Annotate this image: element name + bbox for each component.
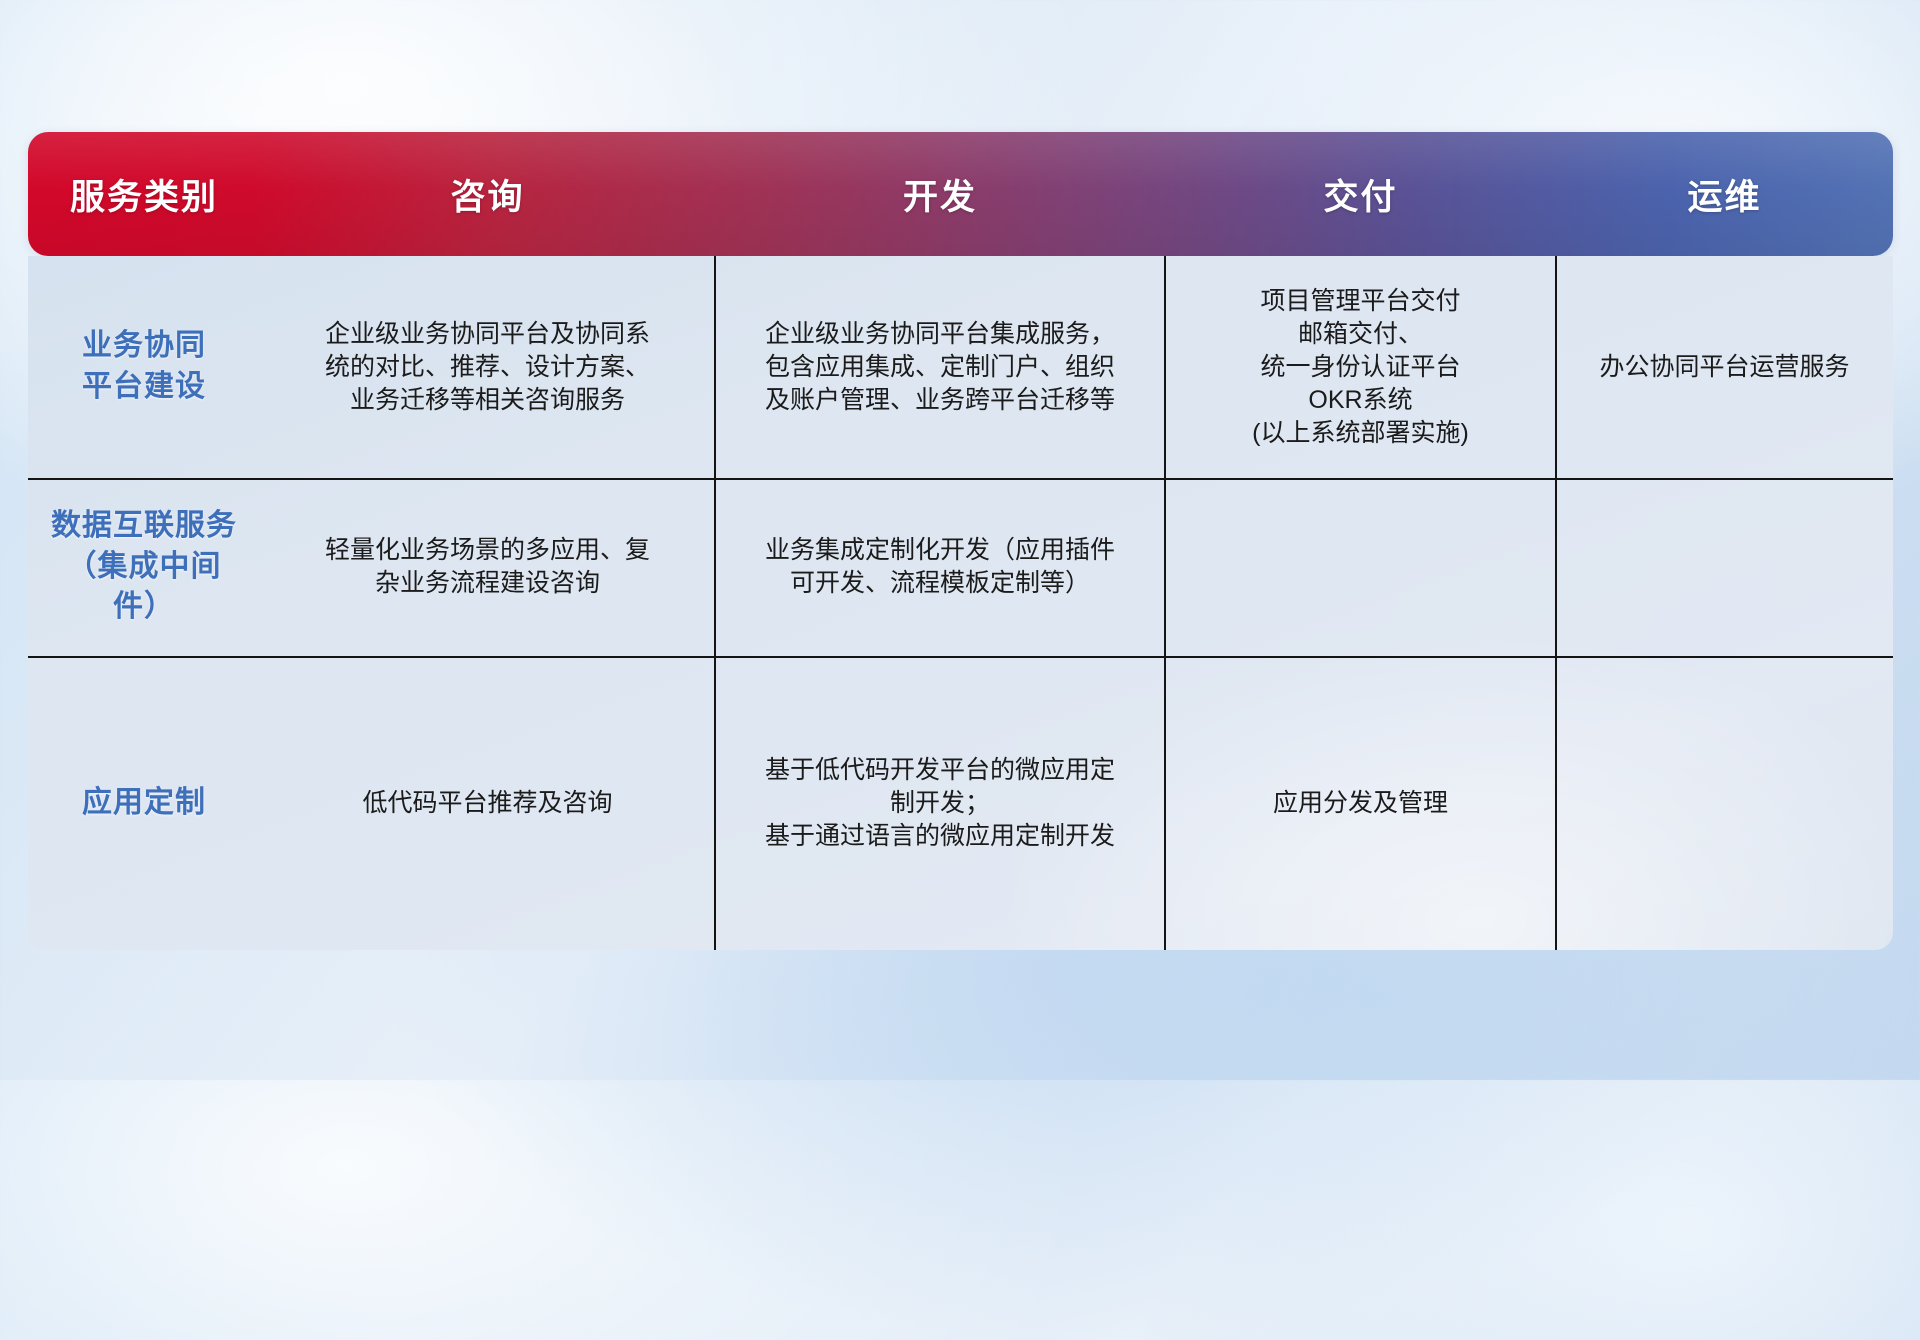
column-header-operations: 运维: [1556, 169, 1893, 220]
cell-r2-consulting: 轻量化业务场景的多应用、复 杂业务流程建设咨询: [260, 534, 715, 600]
column-header-development: 开发: [715, 169, 1165, 220]
cell-r1-development: 企业级业务协同平台集成服务， 包含应用集成、定制门户、组织 及账户管理、业务跨平…: [715, 318, 1165, 417]
row-divider-2: [28, 656, 1893, 658]
column-divider-1: [714, 256, 716, 950]
row-divider-1: [28, 478, 1893, 480]
table-row: 业务协同 平台建设 企业级业务协同平台及协同系 统的对比、推荐、设计方案、 业务…: [28, 256, 1893, 478]
column-header-delivery: 交付: [1165, 169, 1556, 220]
table-header-row: 服务类别 咨询 开发 交付 运维: [28, 132, 1893, 256]
cell-r3-consulting: 低代码平台推荐及咨询: [260, 787, 715, 820]
cell-r2-development: 业务集成定制化开发（应用插件 可开发、流程模板定制等）: [715, 534, 1165, 600]
column-divider-2: [1164, 256, 1166, 950]
row-label-app-customization: 应用定制: [28, 783, 260, 824]
table-row: 数据互联服务 （集成中间件） 轻量化业务场景的多应用、复 杂业务流程建设咨询 业…: [28, 478, 1893, 656]
column-header-consulting: 咨询: [260, 169, 715, 220]
service-matrix-table: 服务类别 咨询 开发 交付 运维 业务协同 平台建设 企业级业务协同平台及协同系…: [28, 132, 1893, 950]
column-header-category: 服务类别: [28, 169, 260, 220]
row-label-data-integration: 数据互联服务 （集成中间件）: [28, 506, 260, 628]
cell-r1-consulting: 企业级业务协同平台及协同系 统的对比、推荐、设计方案、 业务迁移等相关咨询服务: [260, 318, 715, 417]
table-body: 业务协同 平台建设 企业级业务协同平台及协同系 统的对比、推荐、设计方案、 业务…: [28, 256, 1893, 950]
cell-r1-operations: 办公协同平台运营服务: [1556, 351, 1893, 384]
table-row: 应用定制 低代码平台推荐及咨询 基于低代码开发平台的微应用定 制开发； 基于通过…: [28, 656, 1893, 950]
cell-r1-delivery: 项目管理平台交付 邮箱交付、 统一身份认证平台 OKR系统 (以上系统部署实施): [1165, 285, 1556, 450]
cell-r3-development: 基于低代码开发平台的微应用定 制开发； 基于通过语言的微应用定制开发: [715, 754, 1165, 853]
column-divider-3: [1555, 256, 1557, 950]
row-label-business-collaboration: 业务协同 平台建设: [28, 326, 260, 408]
cell-r3-delivery: 应用分发及管理: [1165, 787, 1556, 820]
